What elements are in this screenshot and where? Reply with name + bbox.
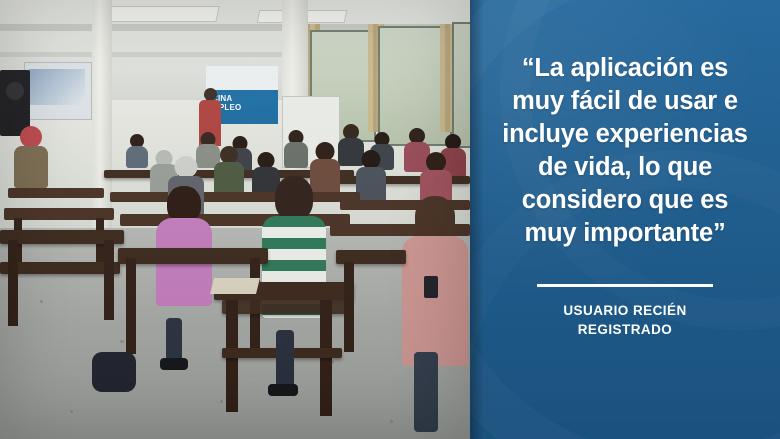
person-torso bbox=[214, 162, 244, 196]
bench-backrest bbox=[0, 262, 120, 274]
bench-leg bbox=[8, 240, 18, 326]
attribution-line-2: REGISTRADO bbox=[563, 320, 686, 339]
floor-speck bbox=[390, 420, 393, 423]
backpack bbox=[92, 352, 136, 392]
floor-speck bbox=[40, 300, 43, 303]
person-torso bbox=[14, 146, 48, 188]
audience-person bbox=[284, 130, 308, 168]
floor-speck bbox=[70, 410, 73, 413]
person-torso bbox=[126, 146, 148, 168]
window bbox=[452, 22, 470, 148]
attribution-line-1: USUARIO RECIÉN bbox=[563, 301, 686, 320]
notebook bbox=[210, 278, 260, 294]
person-leg bbox=[414, 352, 438, 432]
person-torso bbox=[402, 236, 468, 366]
person-head-mask bbox=[20, 126, 42, 148]
person-torso bbox=[356, 167, 386, 204]
floor-speck bbox=[220, 400, 223, 403]
projection-screen bbox=[24, 62, 92, 120]
bench-leg bbox=[344, 262, 354, 352]
mobile-phone bbox=[424, 276, 438, 298]
quote-text: “La aplicación es muy fácil de usar e in… bbox=[496, 52, 754, 250]
bench-row bbox=[8, 188, 104, 198]
audience-person bbox=[126, 134, 148, 168]
quote-panel: “La aplicación es muy fácil de usar e in… bbox=[470, 0, 780, 439]
bench-leg bbox=[126, 258, 136, 354]
person-head bbox=[275, 176, 313, 220]
person-head-beanie bbox=[175, 156, 198, 178]
banner-header-strip bbox=[206, 66, 278, 90]
quote-content: “La aplicación es muy fácil de usar e in… bbox=[470, 0, 780, 439]
floor-speck bbox=[120, 340, 124, 343]
person-head bbox=[426, 152, 446, 172]
person-head bbox=[415, 196, 455, 240]
quote-divider bbox=[537, 284, 713, 287]
quote-attribution: USUARIO RECIÉN REGISTRADO bbox=[563, 301, 686, 339]
classroom-photo: CINA MPLEO bbox=[0, 0, 470, 439]
audience-person-pink-jacket bbox=[156, 186, 212, 306]
audience-person-masked bbox=[14, 126, 48, 188]
audience-person bbox=[356, 150, 386, 204]
projected-slide bbox=[29, 69, 85, 105]
person-torso bbox=[284, 142, 308, 168]
person-head bbox=[167, 186, 201, 222]
shoe bbox=[160, 358, 188, 370]
audience-person bbox=[214, 146, 244, 196]
bench-leg bbox=[104, 240, 114, 320]
bench-row bbox=[118, 248, 268, 264]
person-leg bbox=[276, 330, 294, 390]
ceiling-light bbox=[94, 6, 219, 22]
shoe bbox=[268, 384, 298, 396]
bench-leg bbox=[320, 300, 332, 416]
testimonial-graphic: CINA MPLEO bbox=[0, 0, 780, 439]
